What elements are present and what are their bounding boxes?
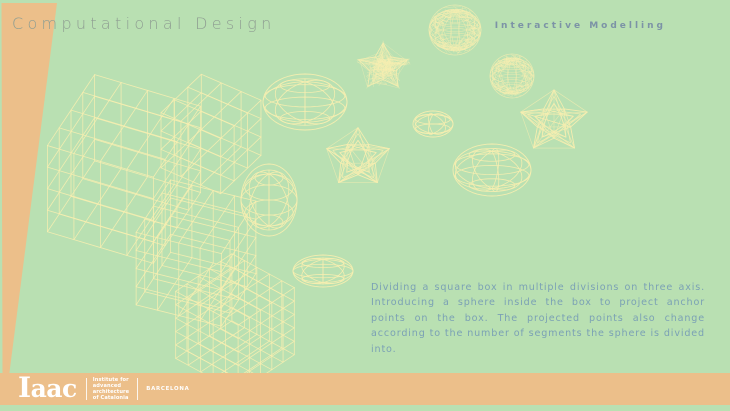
iaac-wordmark-capital: I xyxy=(18,371,31,404)
iaac-wordmark: Iaac xyxy=(18,375,77,401)
subtitle-label: Interactive Modelling xyxy=(495,21,666,31)
bottom-green-strip xyxy=(0,405,730,411)
iaac-description-line-4: of Catalonia xyxy=(93,395,129,401)
iaac-wordmark-rest: aac xyxy=(31,374,77,403)
page-title: Computational Design xyxy=(12,14,276,33)
description-text: Dividing a square box in multiple divisi… xyxy=(371,280,705,357)
logo-divider-right xyxy=(137,378,138,400)
iaac-description: Institute for advanced architecture of C… xyxy=(93,377,129,402)
iaac-logo: Iaac Institute for advanced architecture… xyxy=(18,374,190,404)
top-green-strip xyxy=(0,0,730,3)
iaac-description-line-1: Institute for xyxy=(93,377,129,383)
iaac-city-label: BARCELONA xyxy=(146,386,189,392)
logo-divider-left xyxy=(86,378,87,400)
description-block: Dividing a square box in multiple divisi… xyxy=(371,280,705,357)
slide-canvas: Computational Design Interactive Modelli… xyxy=(0,0,730,411)
